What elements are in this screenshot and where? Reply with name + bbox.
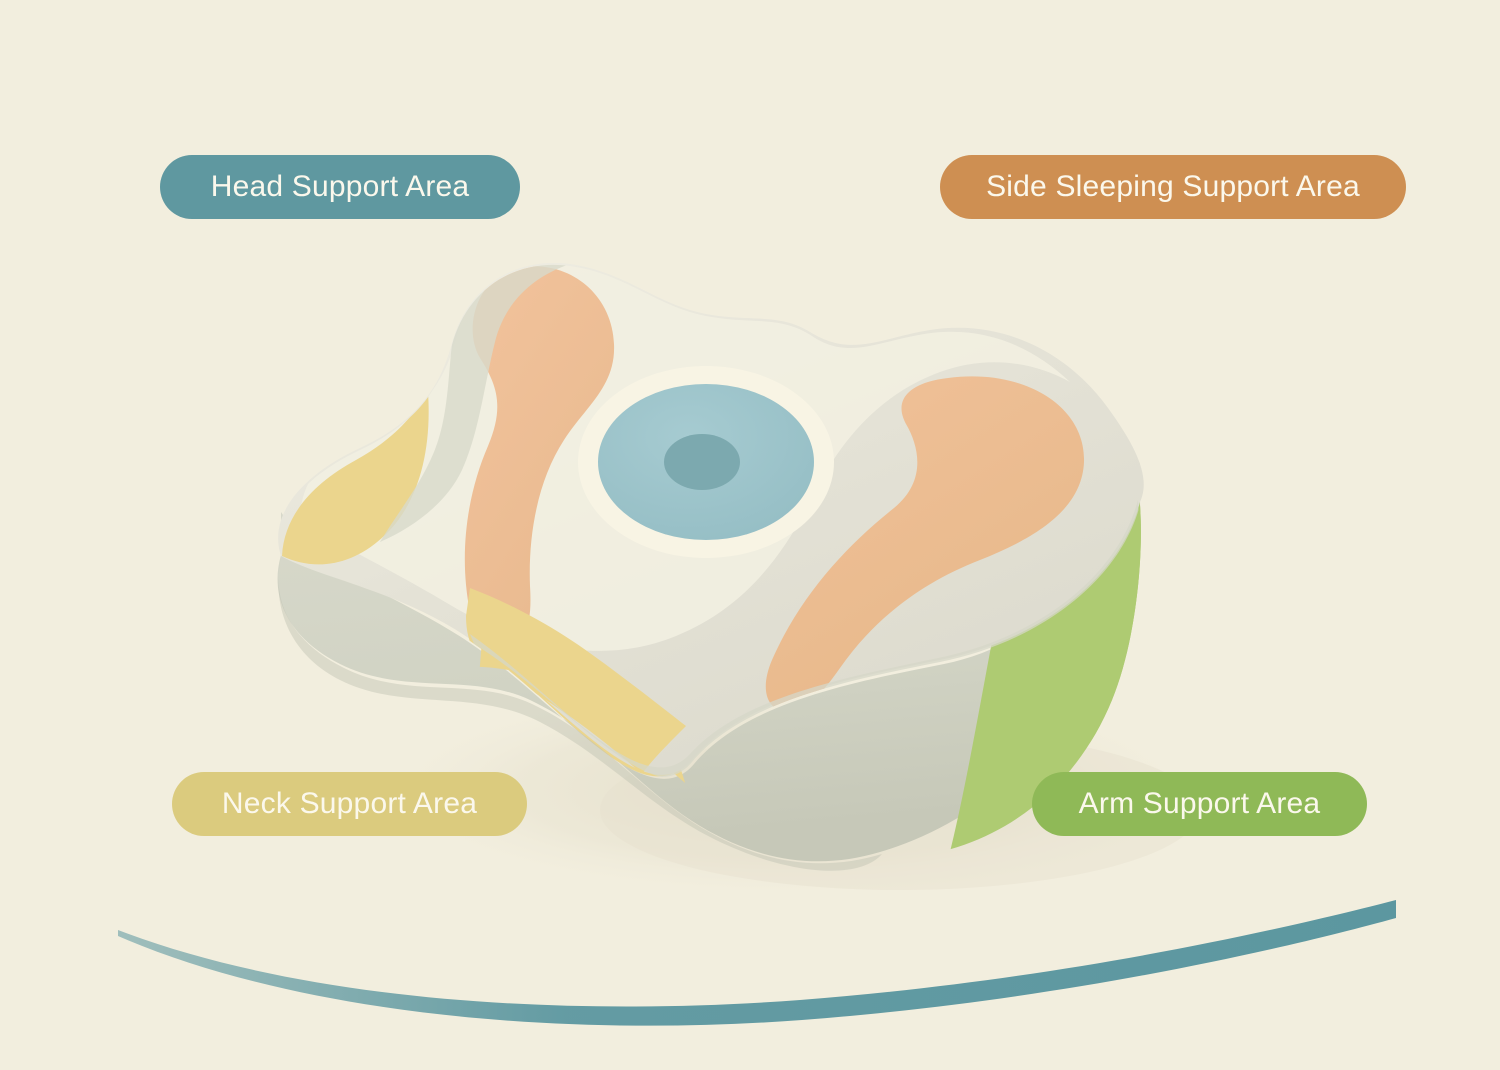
- spine-alignment-curve: [118, 900, 1396, 1026]
- label-head-support-area[interactable]: Head Support Area: [160, 155, 520, 219]
- center-inner-disc: [664, 434, 740, 490]
- label-side-sleeping-support-area[interactable]: Side Sleeping Support Area: [940, 155, 1406, 219]
- label-neck-support-area-text: Neck Support Area: [222, 787, 477, 821]
- label-side-sleeping-support-area-text: Side Sleeping Support Area: [986, 170, 1360, 204]
- illustration-canvas: Head Support Area Side Sleeping Support …: [0, 0, 1500, 1070]
- label-neck-support-area[interactable]: Neck Support Area: [172, 772, 527, 836]
- label-head-support-area-text: Head Support Area: [211, 170, 470, 204]
- label-arm-support-area[interactable]: Arm Support Area: [1032, 772, 1367, 836]
- label-arm-support-area-text: Arm Support Area: [1079, 787, 1321, 821]
